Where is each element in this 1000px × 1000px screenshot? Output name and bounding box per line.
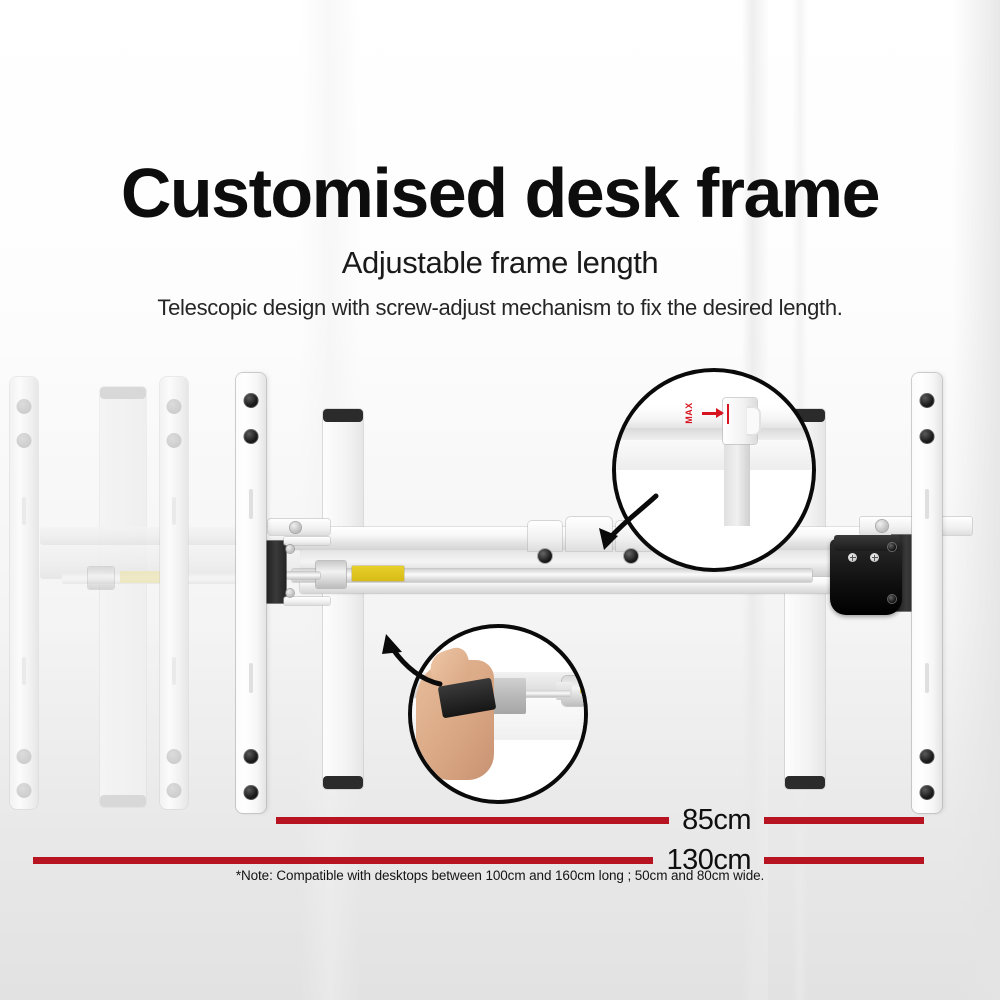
beam-end-bolt [290,522,301,533]
rail-end-tab [747,406,761,436]
leg-column [724,444,750,526]
adjust-nut [316,561,346,588]
callout-arrow-lower [344,604,444,694]
adjust-nut-ghost [88,567,114,589]
measure-label: 85cm [669,806,764,835]
measure-line-right [764,817,924,824]
adjust-rod-tip [286,572,320,579]
mount-bracket [284,597,330,605]
foot-cap-ghost [100,795,146,807]
leg-bracket-ghost [10,377,38,809]
page-title: Customised desk frame [0,158,1000,228]
leg-bracket-ghost [160,377,188,809]
product-feature-graphic: Customised desk frame Adjustable frame l… [0,0,1000,1000]
max-label: MAX [684,402,694,424]
foot-bar-ghost [100,387,146,807]
foot-cap [323,409,363,422]
tool-shaft [524,690,570,697]
rail-lower [612,440,816,470]
measure-line-left [276,817,669,824]
foot-cap [323,776,363,789]
foot-cap-ghost [100,387,146,399]
motor-bolt [888,595,896,603]
mount-bolt [286,545,294,553]
leg-bracket-right [912,373,942,813]
measurement-85cm: 85cm [276,806,924,835]
leg-bracket-left [236,373,266,813]
warning-label [352,566,404,581]
subtitle: Adjustable frame length [0,247,1000,278]
description-text: Telescopic design with screw-adjust mech… [0,297,1000,319]
motor-bolt [888,543,896,551]
mount-bolt [286,589,294,597]
motor-screw [848,553,857,562]
mount-bracket [284,537,330,545]
max-arrow-icon [702,408,728,418]
rail-groove [612,428,816,440]
foot-cap [785,776,825,789]
max-marking: MAX [678,408,728,418]
measure-line-left [33,857,653,864]
measure-line-right [764,857,924,864]
callout-arrow-upper [552,478,662,558]
motor-screw [870,553,879,562]
footnote: *Note: Compatible with desktops between … [0,869,1000,883]
mount-plate [264,541,286,603]
beam-bolt [538,549,552,563]
motor-mount-bolt [876,520,888,532]
